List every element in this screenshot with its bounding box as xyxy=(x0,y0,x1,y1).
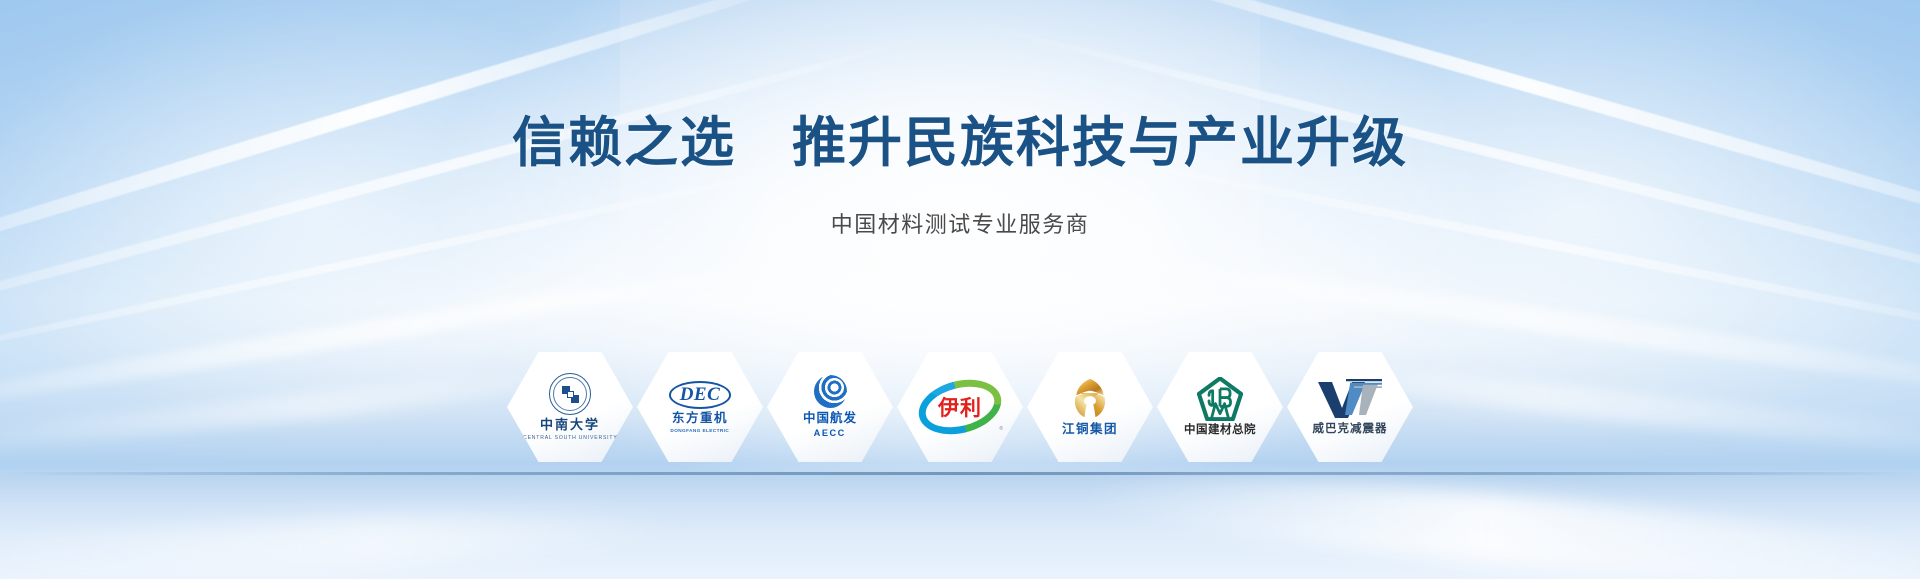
logo-label-en: DONGFANG ELECTRIC xyxy=(671,428,730,434)
yili-ring-icon: 伊利 ® xyxy=(918,381,1002,433)
logo-wordmark: DEC xyxy=(680,384,721,405)
light-streak xyxy=(0,29,940,366)
partner-logo-row: 中南大学 CENTRAL SOUTH UNIVERSITY DEC 东方重机 D… xyxy=(0,352,1920,462)
logo-hexagon-jiangxi-copper[interactable]: 江铜集团 xyxy=(1027,352,1153,462)
ground-reflection xyxy=(1079,459,1920,579)
banner-headline: 信赖之选 推升民族科技与产业升级 xyxy=(0,98,1920,177)
banner-subtitle: 中国材料测试专业服务商 xyxy=(0,207,1920,239)
logo-hexagon-yili[interactable]: 伊利 ® xyxy=(897,352,1023,462)
logo-label-cn: 东方重机 xyxy=(672,412,728,426)
aecc-spiral-icon xyxy=(814,375,847,408)
csu-emblem-icon xyxy=(549,373,591,418)
vibracoustic-v-icon xyxy=(1317,379,1383,423)
ground-reflection xyxy=(0,500,681,579)
hero-banner: 信赖之选 推升民族科技与产业升级 中国材料测试专业服务商 中南大学 CENTRA… xyxy=(0,0,1920,579)
logo-label-cn: 中国建材总院 xyxy=(1184,424,1256,437)
logo-hexagon-dongfang-electric[interactable]: DEC 东方重机 DONGFANG ELECTRIC xyxy=(637,352,763,462)
logo-hexagon-china-building-materials-academy[interactable]: 中国建材总院 xyxy=(1157,352,1283,462)
logo-label-cn: 中南大学 xyxy=(540,418,600,432)
registered-mark: ® xyxy=(999,426,1003,432)
logo-hexagon-vibracoustic[interactable]: 威巴克减震器 xyxy=(1287,352,1413,462)
logo-label-cn: 中国航发 xyxy=(803,412,857,426)
light-streak xyxy=(958,15,1920,339)
logo-label-en: CENTRAL SOUTH UNIVERSITY xyxy=(523,435,617,441)
dec-oval-icon: DEC xyxy=(669,381,732,409)
logo-label-en: AECC xyxy=(814,428,846,439)
ground-plane xyxy=(0,475,1920,579)
cbma-pentagon-icon xyxy=(1197,377,1243,424)
gold-mobius-icon xyxy=(1067,377,1113,423)
logo-label-cn: 威巴克减震器 xyxy=(1313,423,1388,436)
background-glow-center xyxy=(370,0,1550,579)
horizon-line xyxy=(0,472,1920,475)
logo-label-cn: 江铜集团 xyxy=(1062,423,1118,437)
logo-label-cn: 伊利 xyxy=(938,392,982,422)
logo-hexagon-aecc[interactable]: 中国航发 AECC xyxy=(767,352,893,462)
logo-hexagon-central-south-university[interactable]: 中南大学 CENTRAL SOUTH UNIVERSITY xyxy=(507,352,633,462)
